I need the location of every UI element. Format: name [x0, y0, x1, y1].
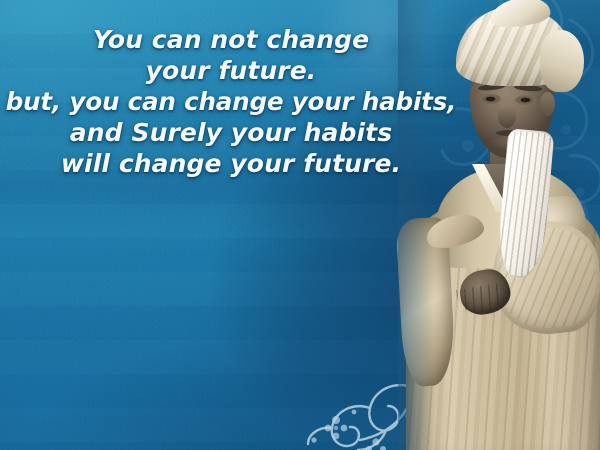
portrait-eye-right: [515, 95, 536, 105]
quote-line-2: your future.: [4, 55, 458, 86]
quote-poster: You can not change your future. but, you…: [0, 0, 600, 450]
quote-line-1: You can not change: [4, 24, 458, 55]
quote-line-5: will change your future.: [4, 148, 458, 179]
portrait-eye-left: [480, 94, 501, 104]
portrait-ear: [540, 92, 555, 116]
quote-line-4: and Surely your habits: [4, 117, 458, 148]
quote-text-block: You can not change your future. but, you…: [0, 24, 462, 179]
portrait-nose: [498, 104, 516, 128]
quote-line-3: but, you can change your habits,: [4, 86, 458, 117]
portrait-turban-side: [540, 30, 584, 92]
